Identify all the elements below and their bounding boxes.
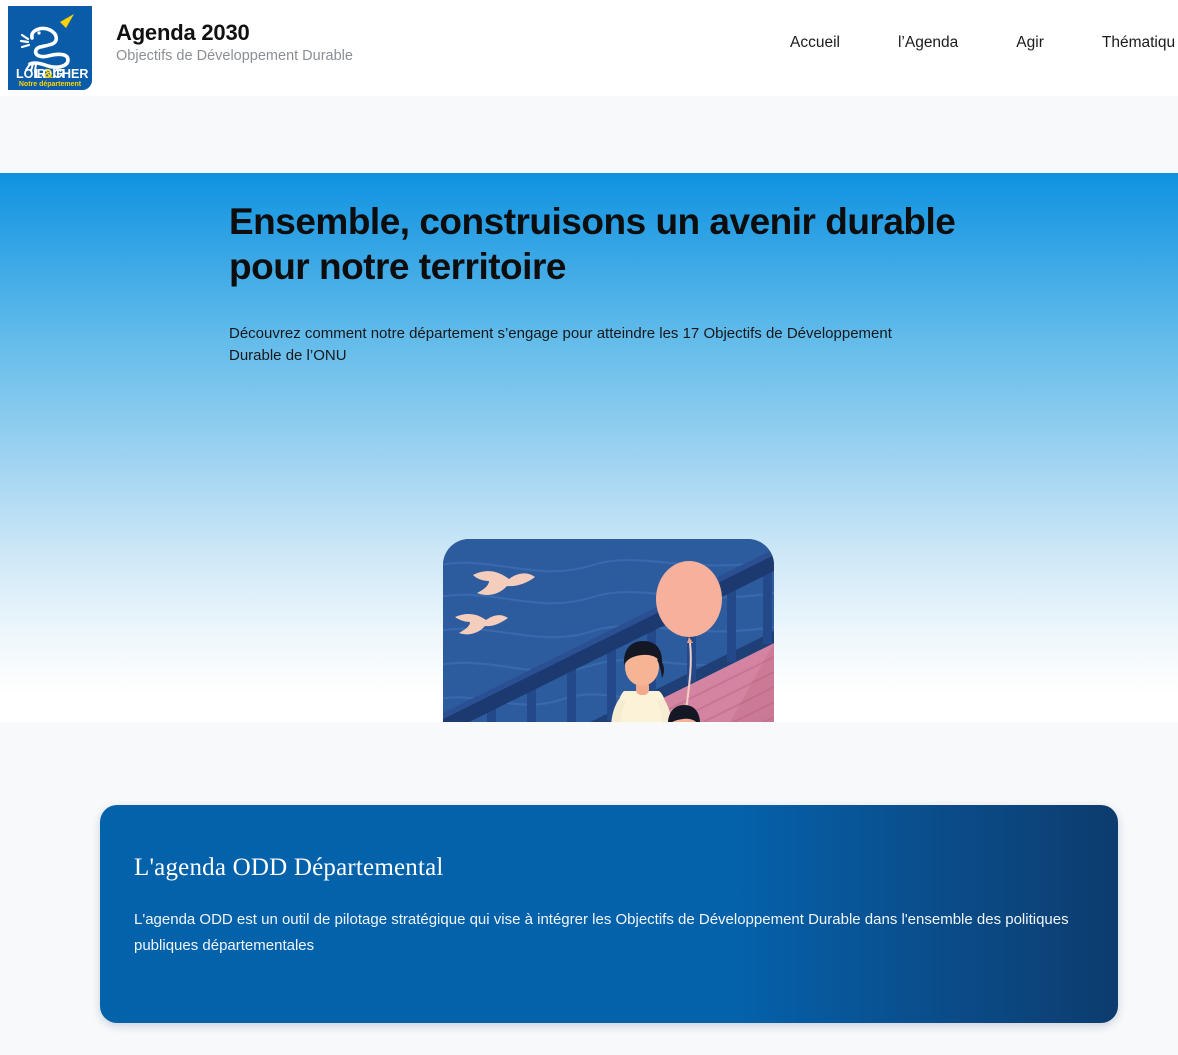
nav-item-thematiques[interactable]: Thématiqu [1102, 34, 1175, 52]
loir-et-cher-logo[interactable]: LOIR LOIR & CHER Notre département [8, 6, 92, 90]
hero-title: Ensemble, construisons un avenir durable… [229, 199, 969, 289]
page-title: Agenda 2030 [116, 20, 353, 45]
svg-text:LOIR: LOIR [16, 67, 46, 81]
family-walking-boardwalk-illustration [443, 539, 774, 722]
nav-item-agir[interactable]: Agir [1016, 34, 1044, 52]
lower-section: L'agenda ODD Départemental L'agenda ODD … [0, 722, 1178, 1055]
hero-section: Ensemble, construisons un avenir durable… [0, 173, 1178, 722]
odd-card-title: L'agenda ODD Départemental [134, 853, 1084, 883]
odd-card-body: L'agenda ODD est un outil de pilotage st… [134, 907, 1079, 960]
nav-item-accueil[interactable]: Accueil [790, 34, 840, 52]
header-spacer-band [0, 96, 1178, 173]
hero-illustration [443, 539, 774, 722]
hero-subtitle: Découvrez comment notre département s’en… [229, 323, 944, 367]
brand-text: Agenda 2030 Objectifs de Développement D… [116, 20, 353, 66]
odd-agenda-card[interactable]: L'agenda ODD Départemental L'agenda ODD … [100, 805, 1118, 1023]
main-navigation: Accueil l’Agenda Agir Thématiqu [790, 34, 1175, 52]
salamander-logo-icon: LOIR LOIR & CHER Notre département [8, 6, 92, 90]
nav-item-agenda[interactable]: l’Agenda [898, 34, 958, 52]
page-subtitle: Objectifs de Développement Durable [116, 47, 353, 66]
hero-text-block: Ensemble, construisons un avenir durable… [229, 199, 969, 367]
site-header: LOIR LOIR & CHER Notre département Agend… [0, 0, 1178, 96]
svg-text:Notre département: Notre département [19, 81, 82, 88]
